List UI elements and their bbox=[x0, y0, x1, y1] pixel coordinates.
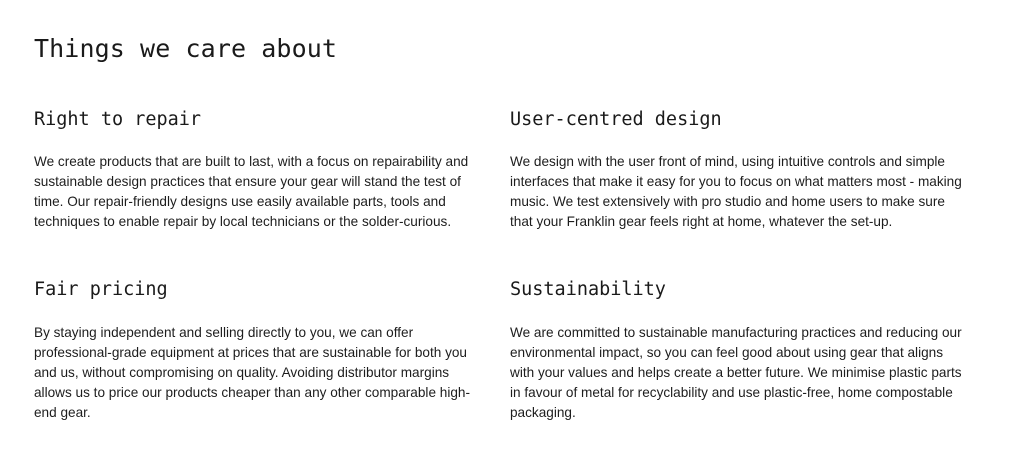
care-item-body: We design with the user front of mind, u… bbox=[510, 152, 965, 232]
care-item-heading: Sustainability bbox=[510, 279, 965, 300]
page-title: Things we care about bbox=[34, 0, 990, 61]
care-item-body: By staying independent and selling direc… bbox=[34, 323, 489, 423]
things-we-care-about-page: Things we care about Right to repair We … bbox=[0, 0, 1024, 473]
care-item-heading: Fair pricing bbox=[34, 279, 489, 300]
care-item-body: We are committed to sustainable manufact… bbox=[510, 323, 965, 423]
care-item-heading: Right to repair bbox=[34, 109, 489, 130]
care-item-body: We create products that are built to las… bbox=[34, 152, 489, 232]
care-item-sustainability: Sustainability We are committed to susta… bbox=[510, 232, 965, 422]
care-values-grid: Right to repair We create products that … bbox=[34, 109, 990, 423]
care-item-fair-pricing: Fair pricing By staying independent and … bbox=[34, 232, 489, 422]
care-item-right-to-repair: Right to repair We create products that … bbox=[34, 109, 489, 232]
care-item-heading: User-centred design bbox=[510, 109, 965, 130]
care-item-user-centred-design: User-centred design We design with the u… bbox=[510, 109, 965, 232]
